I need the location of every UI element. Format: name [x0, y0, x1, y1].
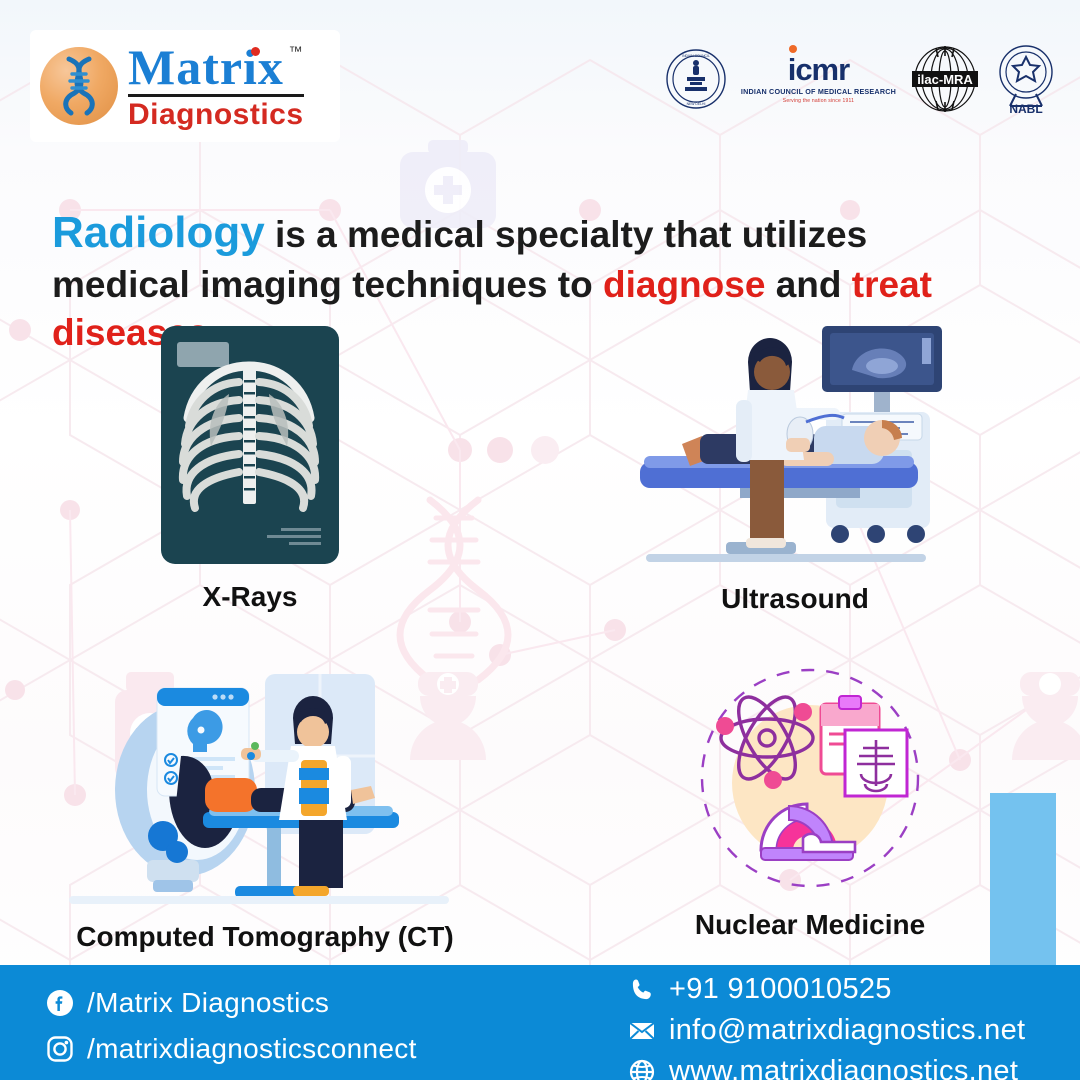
dna-helix-icon — [40, 47, 118, 125]
facebook-handle: /Matrix Diagnostics — [87, 987, 329, 1019]
nuclear-medicine-icon — [685, 668, 935, 898]
phone-icon — [628, 976, 656, 1004]
service-label-x-rays: X-Rays — [95, 581, 405, 613]
brand-name-primary: Matrix ™ — [128, 42, 304, 92]
headline-part2: medical imaging techniques to — [52, 264, 603, 305]
phone-contact[interactable]: +91 9100010525 — [628, 973, 1025, 1006]
instagram-icon — [46, 1035, 74, 1063]
ilac-mra-logo: ilac-MRA — [910, 44, 980, 114]
chest-xray-film-icon — [155, 322, 345, 570]
svg-text:NEW DELHI: NEW DELHI — [686, 102, 705, 106]
social-links: /Matrix Diagnostics /matrixdiagnosticsco… — [46, 987, 417, 1065]
headline-joiner: and — [765, 264, 851, 305]
icmr-subtitle: INDIAN COUNCIL OF MEDICAL RESEARCH — [741, 88, 896, 95]
service-label-ultrasound: Ultrasound — [600, 583, 990, 615]
icmr-wordmark: icmr — [788, 54, 849, 85]
accreditation-badges: INDIAN COUNCIL NEW DELHI icmr INDIAN COU… — [665, 44, 1058, 114]
facebook-link[interactable]: /Matrix Diagnostics — [46, 987, 417, 1019]
headline-highlight: Radiology — [52, 208, 265, 257]
decorative-bar — [990, 793, 1056, 965]
phone-number: +91 9100010525 — [669, 973, 892, 1006]
svg-text:INDIAN COUNCIL: INDIAN COUNCIL — [682, 54, 710, 58]
email-address: info@matrixdiagnostics.net — [669, 1014, 1025, 1047]
instagram-link[interactable]: /matrixdiagnosticsconnect — [46, 1033, 417, 1065]
service-card-ultrasound[interactable]: Ultrasound — [600, 322, 990, 615]
service-card-nuclear-medicine[interactable]: Nuclear Medicine — [640, 668, 980, 941]
icmr-logo: icmr INDIAN COUNCIL OF MEDICAL RESEARCH … — [741, 54, 896, 103]
contact-footer: /Matrix Diagnostics /matrixdiagnosticsco… — [0, 965, 1080, 1080]
email-icon — [628, 1017, 656, 1045]
contact-details: +91 9100010525 info@matrixdiagnostics.ne… — [628, 973, 1025, 1088]
nabl-label: NABL — [1009, 102, 1042, 114]
icmr-dot — [789, 45, 797, 53]
icmr-tagline: Serving the nation since 1911 — [783, 99, 854, 104]
ct-scanner-illustration — [55, 660, 475, 910]
trademark-symbol: ™ — [289, 44, 304, 58]
headline-part1: is a medical specialty that utilizes — [265, 214, 868, 255]
facebook-icon — [46, 989, 74, 1017]
ilac-mra-label: ilac-MRA — [917, 72, 973, 87]
service-label-nuclear-medicine: Nuclear Medicine — [640, 909, 980, 941]
nabl-logo: NABL — [994, 44, 1058, 114]
brand-name-secondary: Diagnostics — [128, 100, 304, 130]
website-contact[interactable]: www.matrixdiagnostics.net — [628, 1055, 1025, 1088]
instagram-handle: /matrixdiagnosticsconnect — [87, 1033, 417, 1065]
globe-icon — [628, 1058, 656, 1086]
icmr-seal-icon: INDIAN COUNCIL NEW DELHI — [665, 48, 727, 110]
service-card-x-rays[interactable]: X-Rays — [95, 322, 405, 613]
email-contact[interactable]: info@matrixdiagnostics.net — [628, 1014, 1025, 1047]
service-label-computed-tomography: Computed Tomography (CT) — [40, 921, 490, 953]
logo-dot — [251, 47, 260, 56]
service-card-computed-tomography[interactable]: Computed Tomography (CT) — [40, 660, 490, 953]
website-url: www.matrixdiagnostics.net — [669, 1055, 1018, 1088]
ultrasound-exam-illustration — [630, 322, 960, 572]
headline-emphasis-1: diagnose — [603, 264, 765, 305]
brand-logo: Matrix ™ Diagnostics — [30, 30, 340, 142]
